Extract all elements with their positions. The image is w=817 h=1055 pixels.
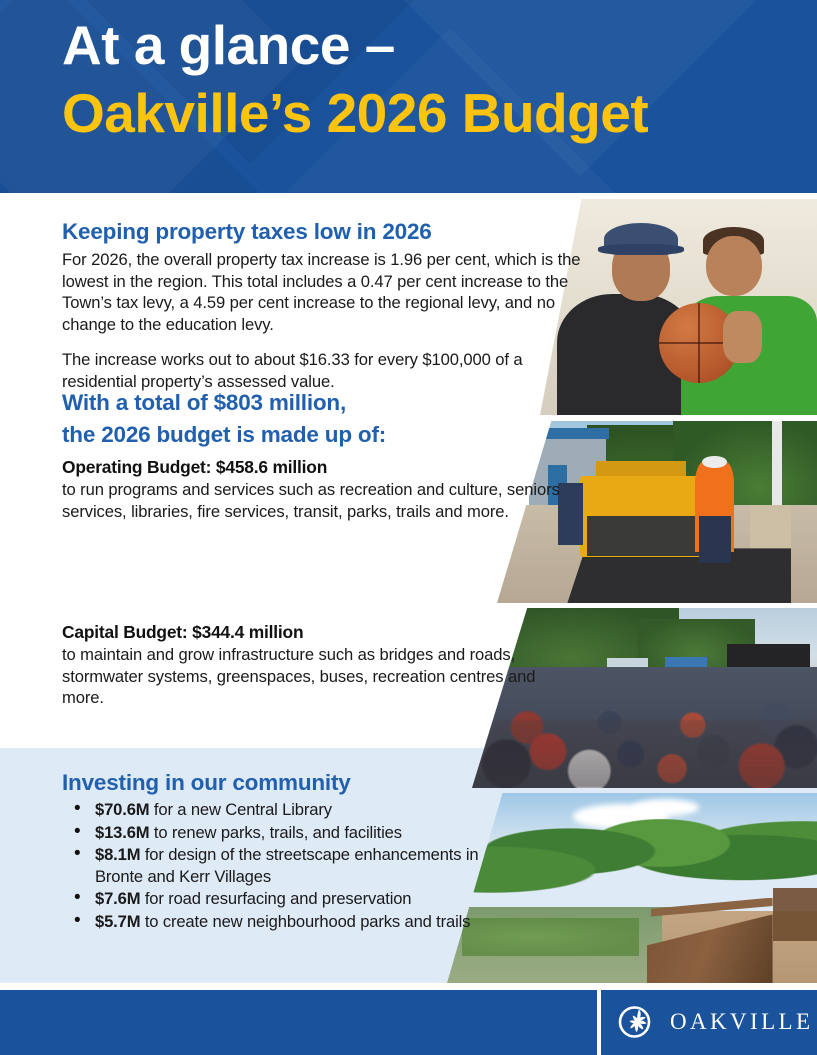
taxes-paragraph-2: The increase works out to about $16.33 f… — [62, 349, 582, 392]
investing-text: for design of the streetscape enhancemen… — [95, 845, 478, 886]
footer-divider — [597, 990, 601, 1055]
page-title-line-1: At a glance – — [62, 14, 648, 76]
investing-text: to renew parks, trails, and facilities — [149, 823, 401, 842]
section-property-taxes: Keeping property taxes low in 2026 For 2… — [62, 218, 582, 406]
header-title-group: At a glance – Oakville’s 2026 Budget — [62, 14, 648, 144]
oakville-wordmark: OAKVILLE — [670, 1009, 813, 1035]
capital-budget-label: Capital Budget: $344.4 million — [62, 621, 542, 644]
capital-budget-text: to maintain and grow infrastructure such… — [62, 644, 542, 709]
investing-amount: $70.6M — [95, 800, 149, 819]
investing-text: for road resurfacing and preservation — [140, 889, 411, 908]
list-item: $5.7M to create new neighbourhood parks … — [62, 911, 502, 933]
page-title-line-2: Oakville’s 2026 Budget — [62, 82, 648, 144]
investing-text: to create new neighbourhood parks and tr… — [140, 912, 470, 931]
page-header: At a glance – Oakville’s 2026 Budget — [0, 0, 817, 193]
operating-budget-label: Operating Budget: $458.6 million — [62, 456, 562, 479]
investing-amount: $5.7M — [95, 912, 140, 931]
investing-text: for a new Central Library — [149, 800, 331, 819]
section-capital-budget: Capital Budget: $344.4 million to mainta… — [62, 621, 542, 709]
section-heading-total-line-2: the 2026 budget is made up of: — [62, 421, 562, 449]
taxes-paragraph-1: For 2026, the overall property tax incre… — [62, 249, 582, 335]
list-item: $13.6M to renew parks, trails, and facil… — [62, 822, 502, 844]
oak-leaf-logo-icon — [617, 1002, 657, 1042]
list-item: $7.6M for road resurfacing and preservat… — [62, 888, 502, 910]
investing-list: $70.6M for a new Central Library $13.6M … — [62, 799, 502, 932]
list-item: $8.1M for design of the streetscape enha… — [62, 844, 502, 887]
section-heading-taxes: Keeping property taxes low in 2026 — [62, 218, 582, 245]
list-item: $70.6M for a new Central Library — [62, 799, 502, 821]
investing-amount: $8.1M — [95, 845, 140, 864]
operating-budget-text: to run programs and services such as rec… — [62, 479, 562, 522]
investing-amount: $7.6M — [95, 889, 140, 908]
oakville-logo: OAKVILLE — [617, 1002, 813, 1042]
investing-amount: $13.6M — [95, 823, 149, 842]
section-investing: Investing in our community $70.6M for a … — [62, 770, 502, 933]
section-budget-total: With a total of $803 million, the 2026 b… — [62, 389, 562, 522]
section-heading-investing: Investing in our community — [62, 770, 502, 796]
budget-infographic-page: At a glance – Oakville’s 2026 Budget Kee… — [0, 0, 817, 1055]
section-heading-total-line-1: With a total of $803 million, — [62, 389, 562, 417]
page-footer: OAKVILLE — [0, 990, 817, 1055]
